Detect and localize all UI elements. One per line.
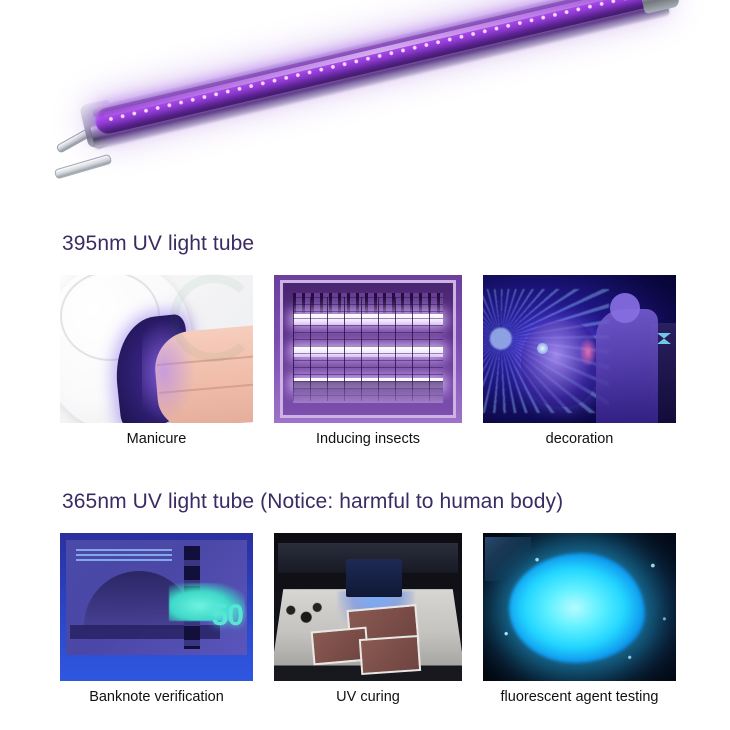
uv-print-head [346, 559, 402, 597]
caption-manicure: Manicure [60, 431, 253, 447]
application-grid-395nm: Manicure Inducing insects decoration [60, 275, 676, 447]
thumbnail-manicure [60, 275, 253, 423]
zapper-tray [293, 381, 443, 403]
application-card-inducing-insects: Inducing insects [274, 275, 462, 447]
section-heading-395nm: 395nm UV light tube [62, 232, 254, 256]
mural-highlight [579, 337, 597, 367]
caption-decoration: decoration [483, 431, 676, 447]
application-card-decoration: decoration [483, 275, 676, 447]
mounting-clip-loose [54, 154, 112, 180]
banknote: 50 [66, 540, 247, 655]
application-card-fluorescent-agent-testing: fluorescent agent testing [483, 533, 676, 705]
application-card-uv-curing: UV curing [274, 533, 462, 705]
caption-banknote-verification: Banknote verification [60, 689, 253, 705]
product-hero-image [0, 0, 730, 215]
thumbnail-uv-curing [274, 533, 462, 681]
application-card-banknote-verification: 50 Banknote verification [60, 533, 253, 705]
tube-glowing-diffuser [93, 0, 666, 136]
thumbnail-banknote-verification: 50 [60, 533, 253, 681]
application-grid-365nm: 50 Banknote verification UV curing fluor… [60, 533, 676, 705]
mural-eye [537, 343, 548, 354]
banknote-denomination: 50 [212, 599, 243, 633]
printed-card [359, 635, 421, 675]
section-heading-365nm: 365nm UV light tube (Notice: harmful to … [62, 490, 563, 514]
thumbnail-decoration [483, 275, 676, 423]
printer-debris [282, 599, 326, 627]
thumbnail-fluorescent-agent-testing [483, 533, 676, 681]
zapper-frame [280, 280, 456, 418]
caption-inducing-insects: Inducing insects [274, 431, 462, 447]
caption-uv-curing: UV curing [274, 689, 462, 705]
application-card-manicure: Manicure [60, 275, 253, 447]
thumbnail-inducing-insects [274, 275, 462, 423]
person-silhouette [596, 309, 658, 423]
uv-glow [142, 319, 196, 423]
fluorescent-specks [483, 533, 676, 681]
uv-light-tube-product [17, 0, 686, 212]
caption-fluorescent-agent-testing: fluorescent agent testing [483, 689, 676, 705]
banknote-microtext [76, 549, 172, 563]
